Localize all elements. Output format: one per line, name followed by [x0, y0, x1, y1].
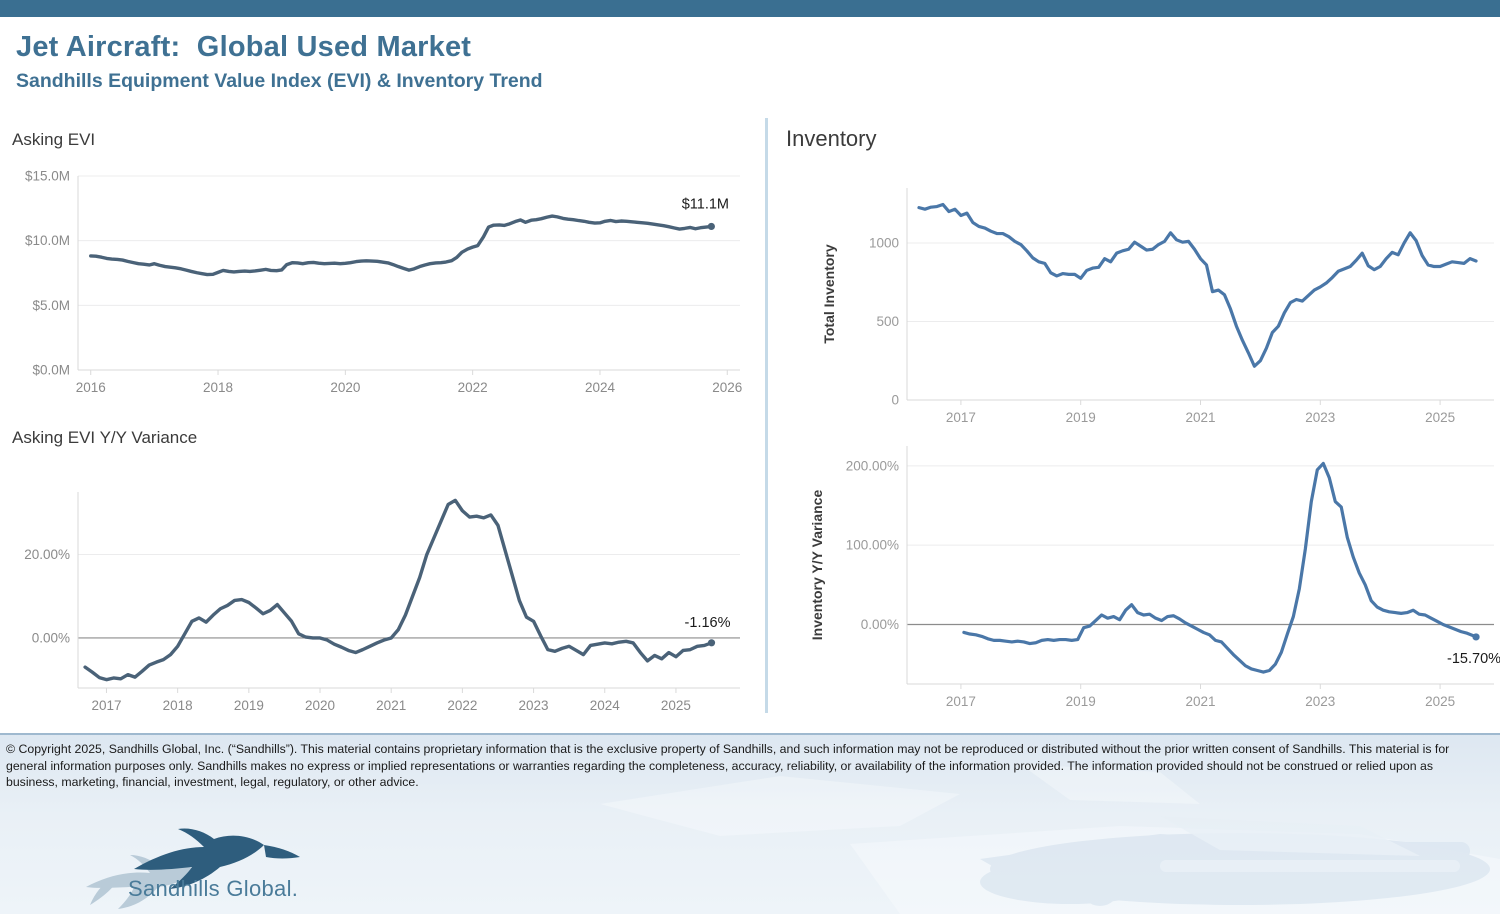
- svg-text:2024: 2024: [585, 380, 616, 395]
- svg-text:2023: 2023: [1305, 410, 1335, 425]
- legal-copyright-text: © Copyright 2025, Sandhills Global, Inc.…: [6, 741, 1476, 791]
- svg-text:100.00%: 100.00%: [846, 538, 899, 553]
- svg-text:$5.0M: $5.0M: [32, 298, 70, 313]
- sandhills-global-wordmark: Sandhills Global.: [128, 876, 298, 902]
- svg-text:$10.0M: $10.0M: [25, 233, 70, 248]
- svg-text:2018: 2018: [163, 698, 193, 713]
- svg-text:-15.70%: -15.70%: [1447, 651, 1500, 667]
- svg-text:$15.0M: $15.0M: [25, 169, 70, 184]
- svg-text:2025: 2025: [1425, 694, 1455, 709]
- svg-text:2022: 2022: [447, 698, 477, 713]
- svg-text:$11.1M: $11.1M: [682, 196, 729, 212]
- svg-text:20.00%: 20.00%: [24, 547, 70, 562]
- svg-text:2016: 2016: [76, 380, 106, 395]
- svg-text:2025: 2025: [1425, 410, 1455, 425]
- svg-text:2017: 2017: [946, 410, 976, 425]
- svg-text:500: 500: [876, 314, 899, 329]
- svg-text:0.00%: 0.00%: [861, 617, 899, 632]
- svg-text:-1.16%: -1.16%: [685, 615, 731, 631]
- svg-text:2024: 2024: [590, 698, 621, 713]
- svg-text:2025: 2025: [661, 698, 691, 713]
- svg-text:Total Inventory: Total Inventory: [821, 244, 837, 344]
- title-block: Jet Aircraft: Global Used Market Sandhil…: [16, 30, 916, 93]
- svg-text:0: 0: [891, 393, 899, 408]
- svg-text:2019: 2019: [1066, 410, 1096, 425]
- asking-evi-variance-chart: 0.00%20.00%20172018201920202021202220232…: [0, 454, 760, 754]
- svg-text:2020: 2020: [330, 380, 360, 395]
- svg-text:2019: 2019: [1066, 694, 1096, 709]
- svg-text:2017: 2017: [91, 698, 121, 713]
- asking-evi-variance-chart-title: Asking EVI Y/Y Variance: [12, 428, 197, 448]
- inventory-variance-chart: 0.00%100.00%200.00%20172019202120232025-…: [772, 428, 1500, 733]
- svg-text:2021: 2021: [1185, 694, 1215, 709]
- page-subtitle: Sandhills Equipment Value Index (EVI) & …: [16, 69, 916, 93]
- asking-evi-chart-title: Asking EVI: [12, 130, 95, 150]
- svg-text:2022: 2022: [458, 380, 488, 395]
- svg-text:0.00%: 0.00%: [32, 630, 70, 645]
- svg-text:$0.0M: $0.0M: [32, 363, 70, 378]
- inventory-chart: 0500100020172019202120232025Total Invent…: [772, 160, 1500, 430]
- svg-text:2017: 2017: [946, 694, 976, 709]
- svg-text:2020: 2020: [305, 698, 335, 713]
- svg-text:2023: 2023: [1305, 694, 1335, 709]
- inventory-chart-title: Inventory: [786, 126, 877, 152]
- svg-text:2019: 2019: [234, 698, 264, 713]
- footer: © Copyright 2025, Sandhills Global, Inc.…: [0, 733, 1500, 914]
- right-panel: Inventory 0500100020172019202120232025To…: [772, 118, 1500, 733]
- svg-text:2026: 2026: [712, 380, 742, 395]
- svg-text:2021: 2021: [376, 698, 406, 713]
- asking-evi-chart: $0.0M$5.0M$10.0M$15.0M201620182020202220…: [0, 118, 760, 418]
- charts-region: Asking EVI $0.0M$5.0M$10.0M$15.0M2016201…: [0, 118, 1500, 733]
- svg-text:2023: 2023: [519, 698, 549, 713]
- page-title: Jet Aircraft: Global Used Market: [16, 30, 916, 64]
- panel-divider: [765, 118, 768, 713]
- svg-text:2018: 2018: [203, 380, 233, 395]
- svg-text:200.00%: 200.00%: [846, 458, 899, 473]
- footer-divider: [0, 733, 1500, 735]
- left-panel: Asking EVI $0.0M$5.0M$10.0M$15.0M2016201…: [0, 118, 760, 733]
- top-accent-bar: [0, 0, 1500, 17]
- svg-text:Inventory Y/Y Variance: Inventory Y/Y Variance: [809, 490, 825, 641]
- svg-text:1000: 1000: [869, 235, 899, 250]
- svg-text:2021: 2021: [1185, 410, 1215, 425]
